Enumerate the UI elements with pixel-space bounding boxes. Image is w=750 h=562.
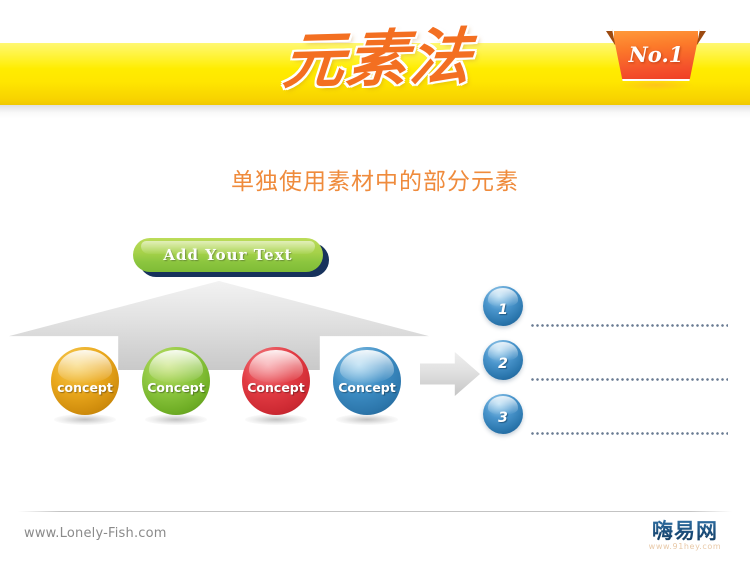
list-item-rule-3 [530,432,728,435]
concept-sphere-label: Concept [242,347,310,415]
concept-sphere-orange[interactable]: concept [51,347,119,415]
list-item-number: 2 [483,340,523,380]
concept-sphere-green[interactable]: Concept [142,347,210,415]
right-arrow-icon [420,352,480,396]
sphere-shadow [336,414,398,425]
badge-label: No.1 [612,29,700,81]
subtitle: 单独使用素材中的部分元素 [0,162,750,196]
list-item-rule-2 [530,378,728,381]
list-item-number: 3 [483,394,523,434]
concept-sphere-label: Concept [333,347,401,415]
list-item-number: 1 [483,286,523,326]
brand-subtext: www.91hey.com [635,542,735,551]
list-item-bullet-1[interactable]: 1 [483,286,523,326]
concept-sphere-label: concept [51,347,119,415]
concept-sphere-red[interactable]: Concept [242,347,310,415]
header-banner-shadow [0,105,750,119]
footer-divider [18,511,732,512]
brand-name: 嗨易网 [635,519,735,543]
sphere-shadow [145,414,207,425]
slide-canvas: 元素法 No.1 单独使用素材中的部分元素 Add Your Text conc… [0,0,750,562]
list-item-rule-1 [530,324,728,327]
callout-label: Add Your Text [133,238,323,272]
brand-logo: 嗨易网 www.91hey.com [635,519,735,553]
badge-no1: No.1 [604,29,708,85]
list-item-bullet-3[interactable]: 3 [483,394,523,434]
concept-sphere-blue[interactable]: Concept [333,347,401,415]
footer-url[interactable]: www.Lonely-Fish.com [24,526,167,541]
sphere-shadow [54,414,116,425]
concept-sphere-label: Concept [142,347,210,415]
page-title: 元素法 [265,16,492,104]
list-item-bullet-2[interactable]: 2 [483,340,523,380]
sphere-shadow [245,414,307,425]
